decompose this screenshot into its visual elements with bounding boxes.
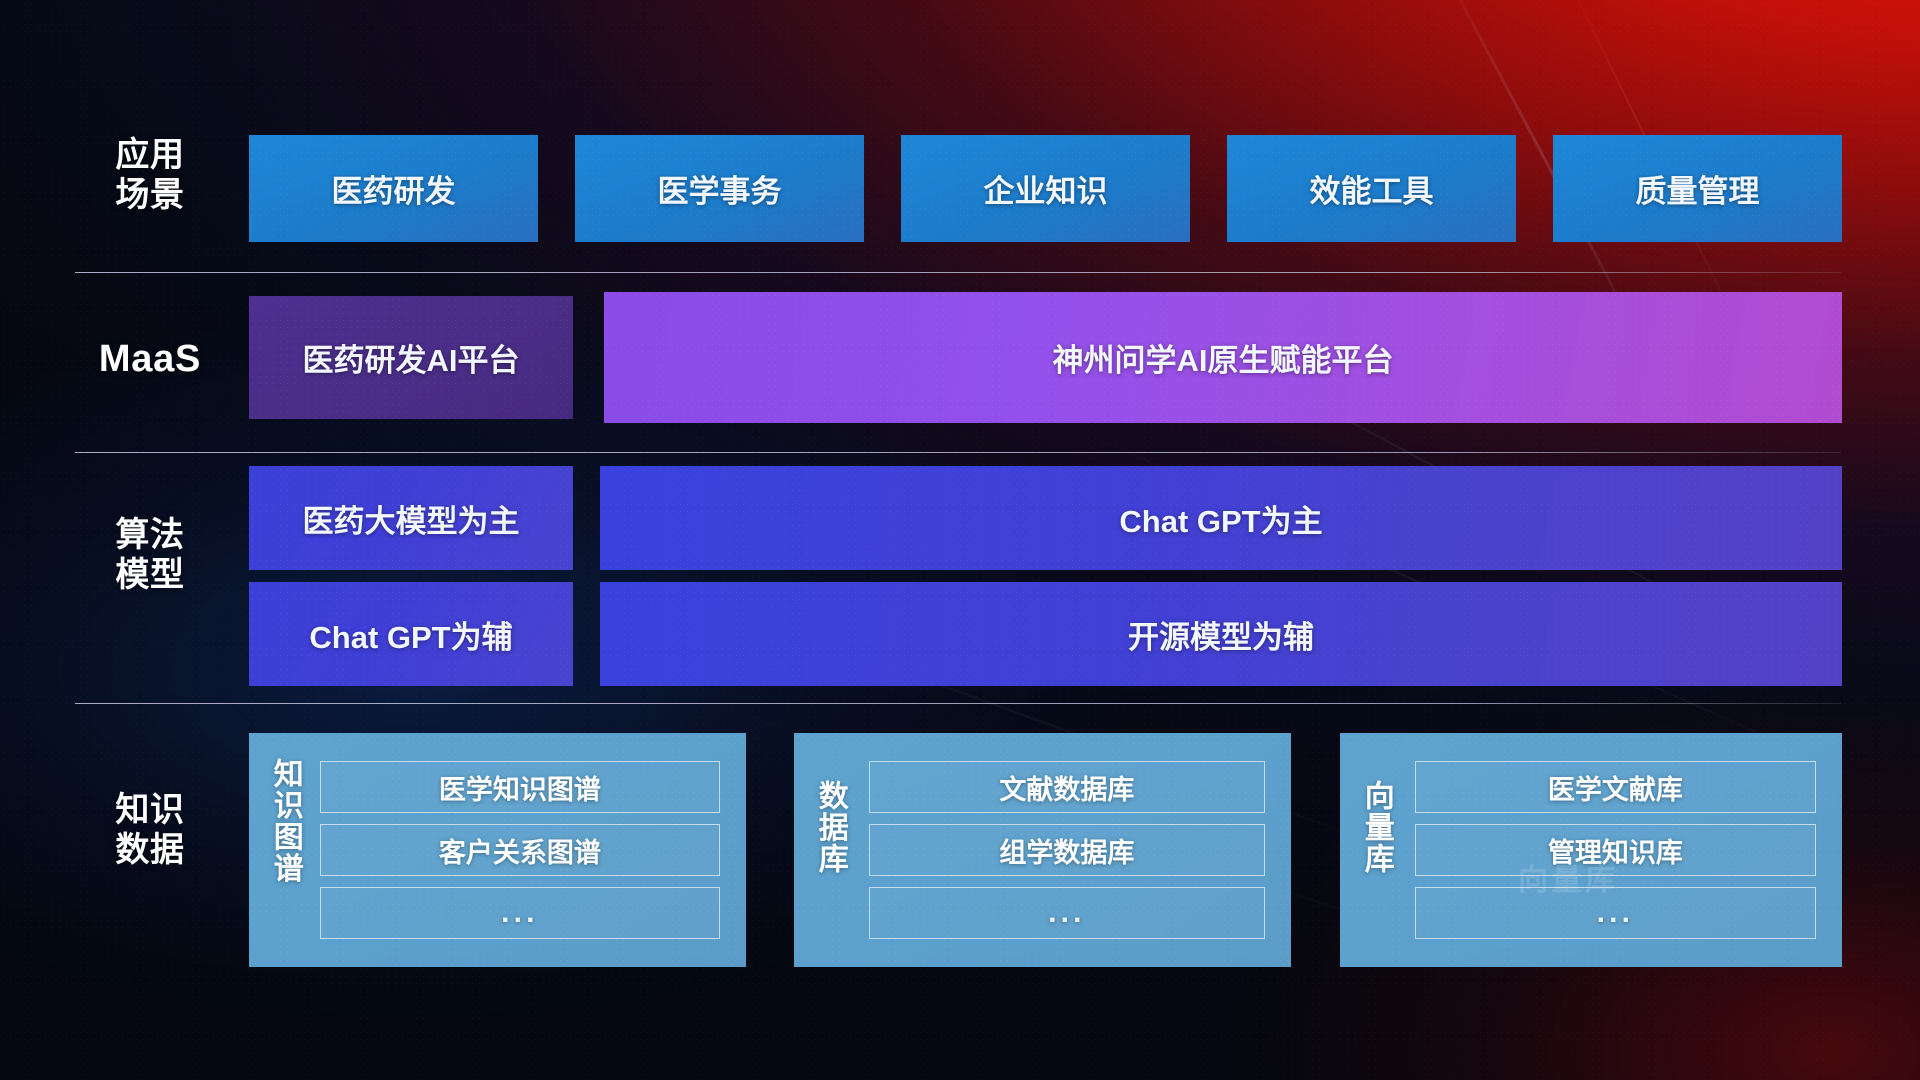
knowledge-group-database: 数据库 文献数据库 组学数据库 ... <box>794 733 1291 967</box>
knowledge-item[interactable]: 组学数据库 <box>869 824 1265 876</box>
algo-right-label: Chat GPT为主 <box>1119 496 1322 541</box>
knowledge-item-label: 组学数据库 <box>999 831 1134 870</box>
algo-right-box-1[interactable]: 开源模型为辅 <box>600 582 1842 686</box>
row-label-knowledge: 知识 数据 <box>75 790 225 870</box>
app-box-1[interactable]: 医学事务 <box>575 135 864 242</box>
knowledge-item[interactable]: ... <box>320 887 720 939</box>
knowledge-item-label: ... <box>1597 896 1635 930</box>
divider-algorithm-knowledge <box>75 703 1841 704</box>
knowledge-item[interactable]: 医学知识图谱 <box>320 761 720 813</box>
knowledge-item-label: ... <box>501 896 539 930</box>
knowledge-item[interactable]: 文献数据库 <box>869 761 1265 813</box>
divider-application-maas <box>75 272 1841 273</box>
knowledge-item-label: 客户关系图谱 <box>439 831 601 870</box>
row-label-algorithm: 算法 模型 <box>75 515 225 595</box>
knowledge-group-title: 向量库 <box>1358 780 1393 920</box>
algo-left-label: 医药大模型为主 <box>303 496 520 541</box>
row-label-application: 应用 场景 <box>75 135 225 215</box>
algo-right-box-0[interactable]: Chat GPT为主 <box>600 466 1842 570</box>
algo-left-box-0[interactable]: 医药大模型为主 <box>249 466 573 570</box>
app-box-3[interactable]: 效能工具 <box>1227 135 1516 242</box>
app-box-label: 质量管理 <box>1636 166 1760 211</box>
knowledge-item[interactable]: ... <box>1415 887 1816 939</box>
knowledge-item-label: 文献数据库 <box>999 768 1134 807</box>
app-box-label: 医学事务 <box>658 166 782 211</box>
knowledge-item[interactable]: 医学文献库 <box>1415 761 1816 813</box>
knowledge-group-vector: 向量库 向量库 医学文献库 管理知识库 ... <box>1340 733 1842 967</box>
app-box-2[interactable]: 企业知识 <box>901 135 1190 242</box>
app-box-label: 效能工具 <box>1310 166 1434 211</box>
knowledge-item-label: 管理知识库 <box>1548 831 1683 870</box>
knowledge-group-graph: 知识图谱 医学知识图谱 客户关系图谱 ... <box>249 733 746 967</box>
row-label-maas: MaaS <box>75 337 225 382</box>
maas-enable-platform-box[interactable]: 神州问学AI原生赋能平台 <box>604 292 1842 423</box>
app-box-4[interactable]: 质量管理 <box>1553 135 1842 242</box>
knowledge-item[interactable]: 管理知识库 <box>1415 824 1816 876</box>
knowledge-item-list: 医学文献库 管理知识库 ... <box>1415 739 1828 961</box>
app-box-0[interactable]: 医药研发 <box>249 135 538 242</box>
knowledge-item-list: 医学知识图谱 客户关系图谱 ... <box>320 739 732 961</box>
algo-right-label: 开源模型为辅 <box>1128 612 1314 657</box>
algo-left-box-1[interactable]: Chat GPT为辅 <box>249 582 573 686</box>
knowledge-group-title: 知识图谱 <box>267 758 302 942</box>
knowledge-item-label: 医学知识图谱 <box>439 768 601 807</box>
knowledge-item-label: 医学文献库 <box>1548 768 1683 807</box>
knowledge-item[interactable]: ... <box>869 887 1265 939</box>
knowledge-item-list: 文献数据库 组学数据库 ... <box>869 739 1277 961</box>
algo-left-label: Chat GPT为辅 <box>309 612 512 657</box>
knowledge-group-title: 数据库 <box>812 780 847 920</box>
divider-maas-algorithm <box>75 452 1841 453</box>
maas-platform-label: 医药研发AI平台 <box>303 335 520 380</box>
architecture-diagram: 应用 场景 医药研发 医学事务 企业知识 效能工具 质量管理 MaaS 医药研发… <box>0 0 1920 1080</box>
maas-enable-platform-label: 神州问学AI原生赋能平台 <box>1053 335 1394 380</box>
knowledge-item-label: ... <box>1048 896 1086 930</box>
app-box-label: 医药研发 <box>332 166 456 211</box>
app-box-label: 企业知识 <box>984 166 1108 211</box>
knowledge-item[interactable]: 客户关系图谱 <box>320 824 720 876</box>
maas-platform-box[interactable]: 医药研发AI平台 <box>249 296 573 419</box>
